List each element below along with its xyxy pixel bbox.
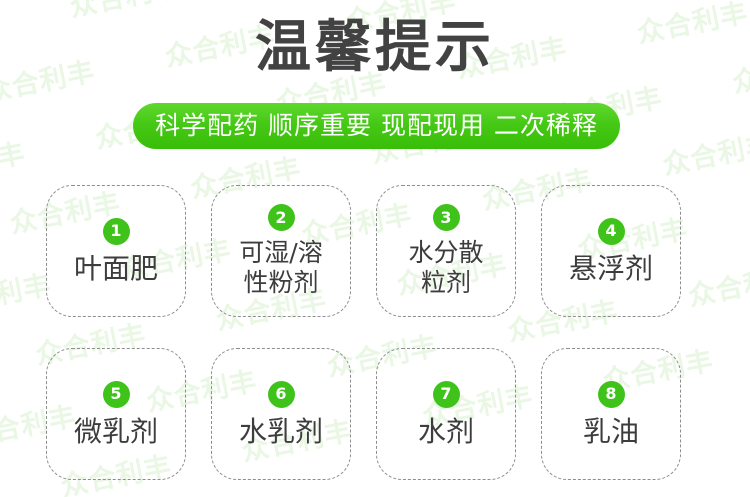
card-number-badge: 7 [433,381,460,408]
card-number-badge: 6 [268,381,295,408]
card-label: 水乳剂 [239,415,323,448]
card-number-badge: 4 [598,218,625,245]
card-label: 叶面肥 [74,252,158,285]
card-label: 微乳剂 [74,415,158,448]
card-label: 水分散 粒剂 [408,238,483,298]
formulation-card-7[interactable]: 7 水剂 [376,348,516,480]
formulation-card-3[interactable]: 3 水分散 粒剂 [376,185,516,317]
promo-page: 众合利丰 众合利丰 众合利丰 众合利丰 众合利丰 众合利丰 众合利丰 众合利丰 … [0,0,750,497]
card-number-badge: 2 [268,204,295,231]
card-label: 悬浮剂 [569,252,653,285]
card-label: 乳油 [583,415,639,448]
formulation-card-6[interactable]: 6 水乳剂 [211,348,351,480]
card-label: 可湿/溶 性粉剂 [239,238,322,298]
formulation-card-2[interactable]: 2 可湿/溶 性粉剂 [211,185,351,317]
card-number-badge: 5 [103,381,130,408]
card-number-badge: 8 [598,381,625,408]
card-number-badge: 3 [433,204,460,231]
formulation-card-5[interactable]: 5 微乳剂 [46,348,186,480]
formulation-card-4[interactable]: 4 悬浮剂 [541,185,681,317]
slogan-text: 科学配药 顺序重要 现配现用 二次稀释 [155,113,598,139]
slogan-banner: 科学配药 顺序重要 现配现用 二次稀释 [133,103,620,149]
card-number-badge: 1 [103,218,130,245]
formulation-card-grid: 1 叶面肥 2 可湿/溶 性粉剂 3 水分散 粒剂 4 悬浮剂 5 微乳剂 6 [46,185,704,480]
formulation-card-1[interactable]: 1 叶面肥 [46,185,186,317]
card-label: 水剂 [418,415,474,448]
page-title: 温馨提示 [0,17,750,79]
formulation-card-8[interactable]: 8 乳油 [541,348,681,480]
